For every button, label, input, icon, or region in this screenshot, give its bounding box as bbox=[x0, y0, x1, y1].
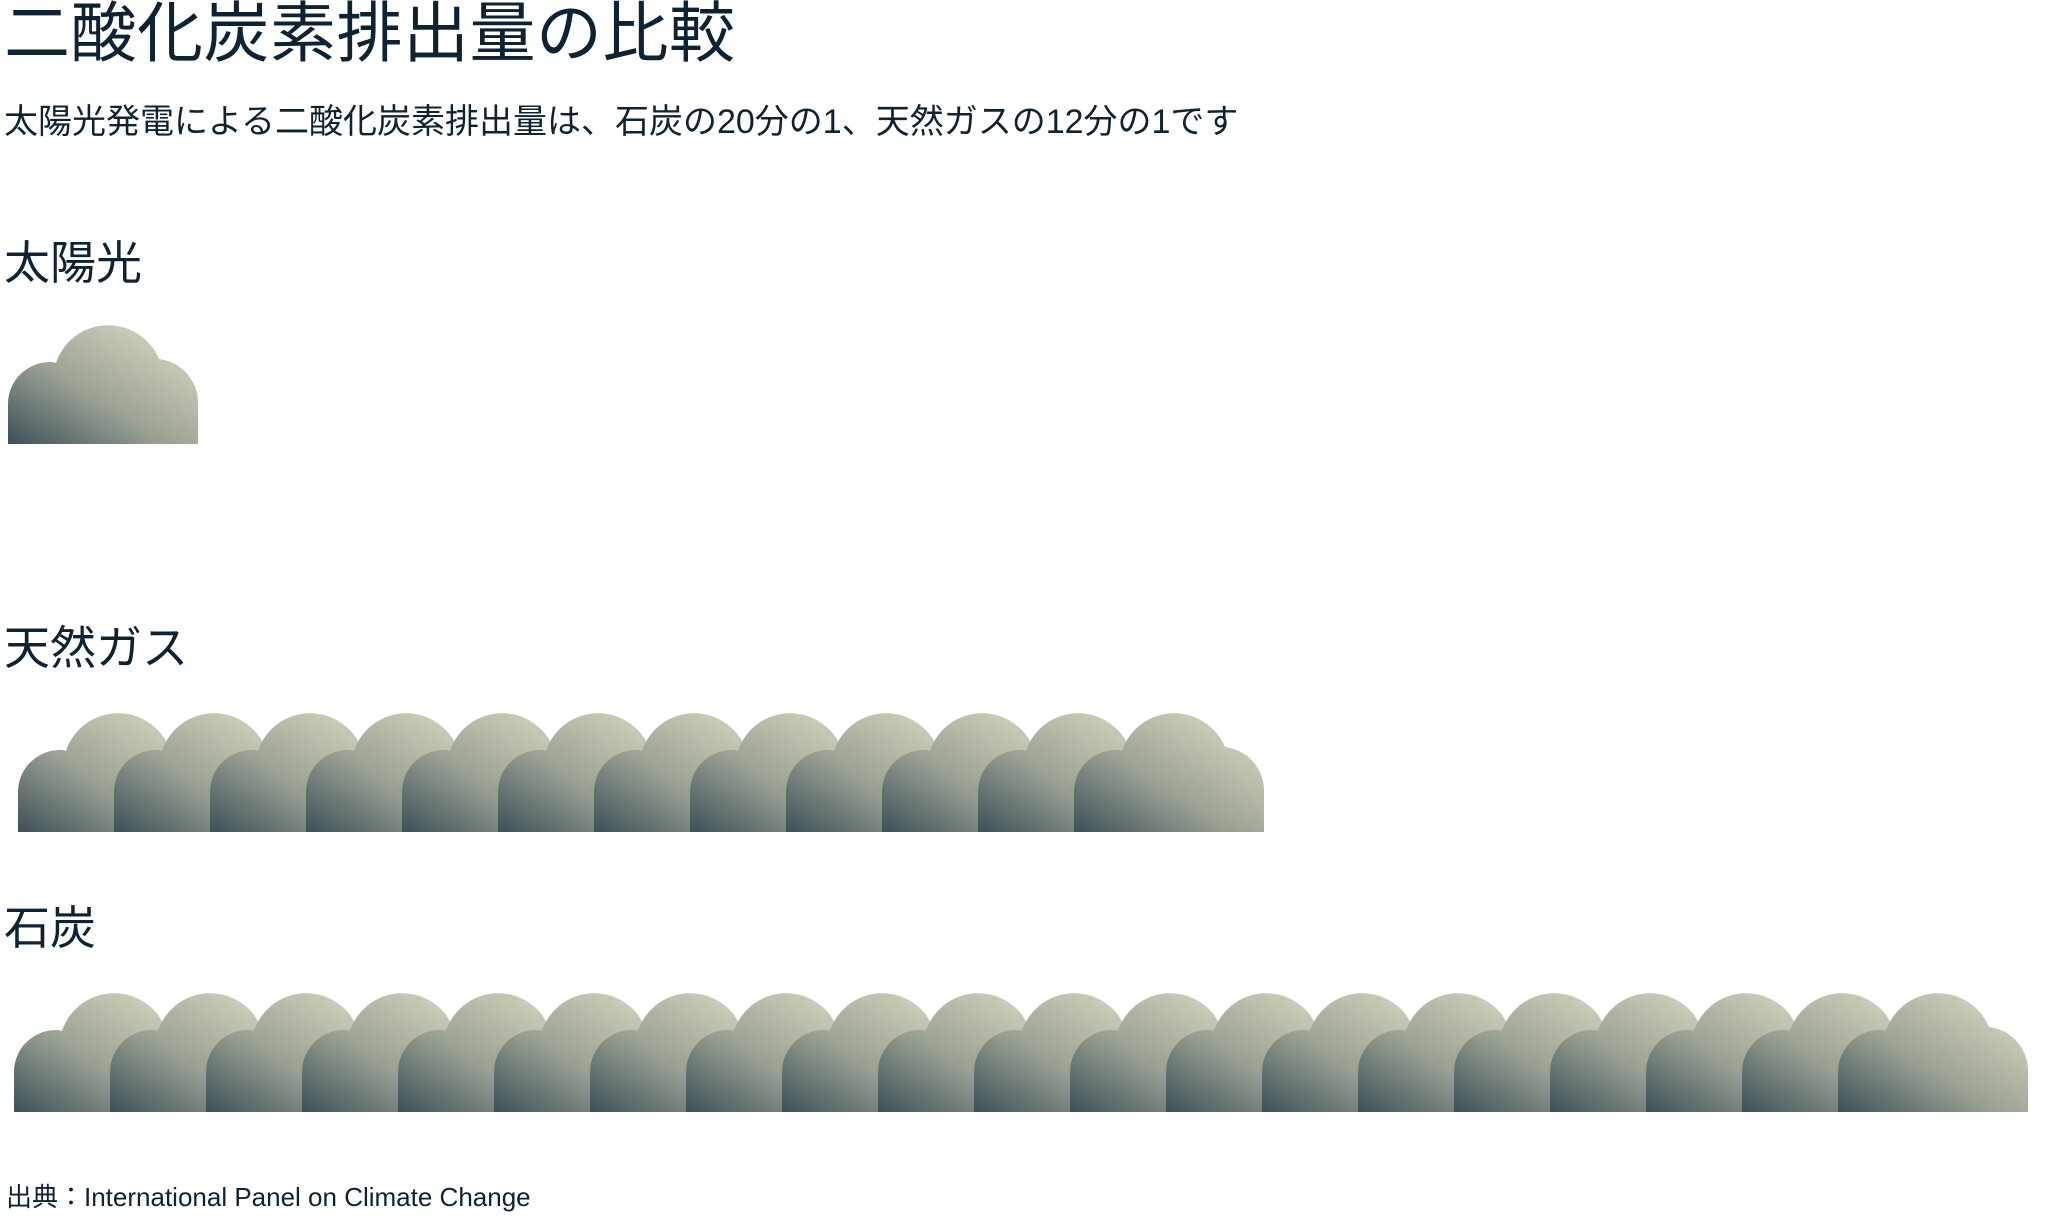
infographic-canvas: 二酸化炭素排出量の比較 太陽光発電による二酸化炭素排出量は、石炭の20分の1、天… bbox=[0, 0, 2048, 1223]
cloud-icon bbox=[1834, 980, 2032, 1112]
category-label-solar: 太陽光 bbox=[4, 240, 142, 286]
category-label-natural-gas: 天然ガス bbox=[4, 625, 188, 671]
pictogram-track-solar bbox=[0, 312, 202, 452]
cloud-icon bbox=[1070, 700, 1268, 832]
page-subtitle: 太陽光発電による二酸化炭素排出量は、石炭の20分の1、天然ガスの12分の1です bbox=[4, 100, 1238, 146]
pictogram-track-natural-gas bbox=[0, 700, 1268, 840]
category-label-coal: 石炭 bbox=[4, 905, 96, 951]
source-caption: 出典：International Panel on Climate Change bbox=[6, 1184, 531, 1210]
pictogram-track-coal bbox=[0, 980, 2032, 1120]
cloud-icon bbox=[4, 312, 202, 444]
page-title: 二酸化炭素排出量の比較 bbox=[4, 0, 736, 73]
